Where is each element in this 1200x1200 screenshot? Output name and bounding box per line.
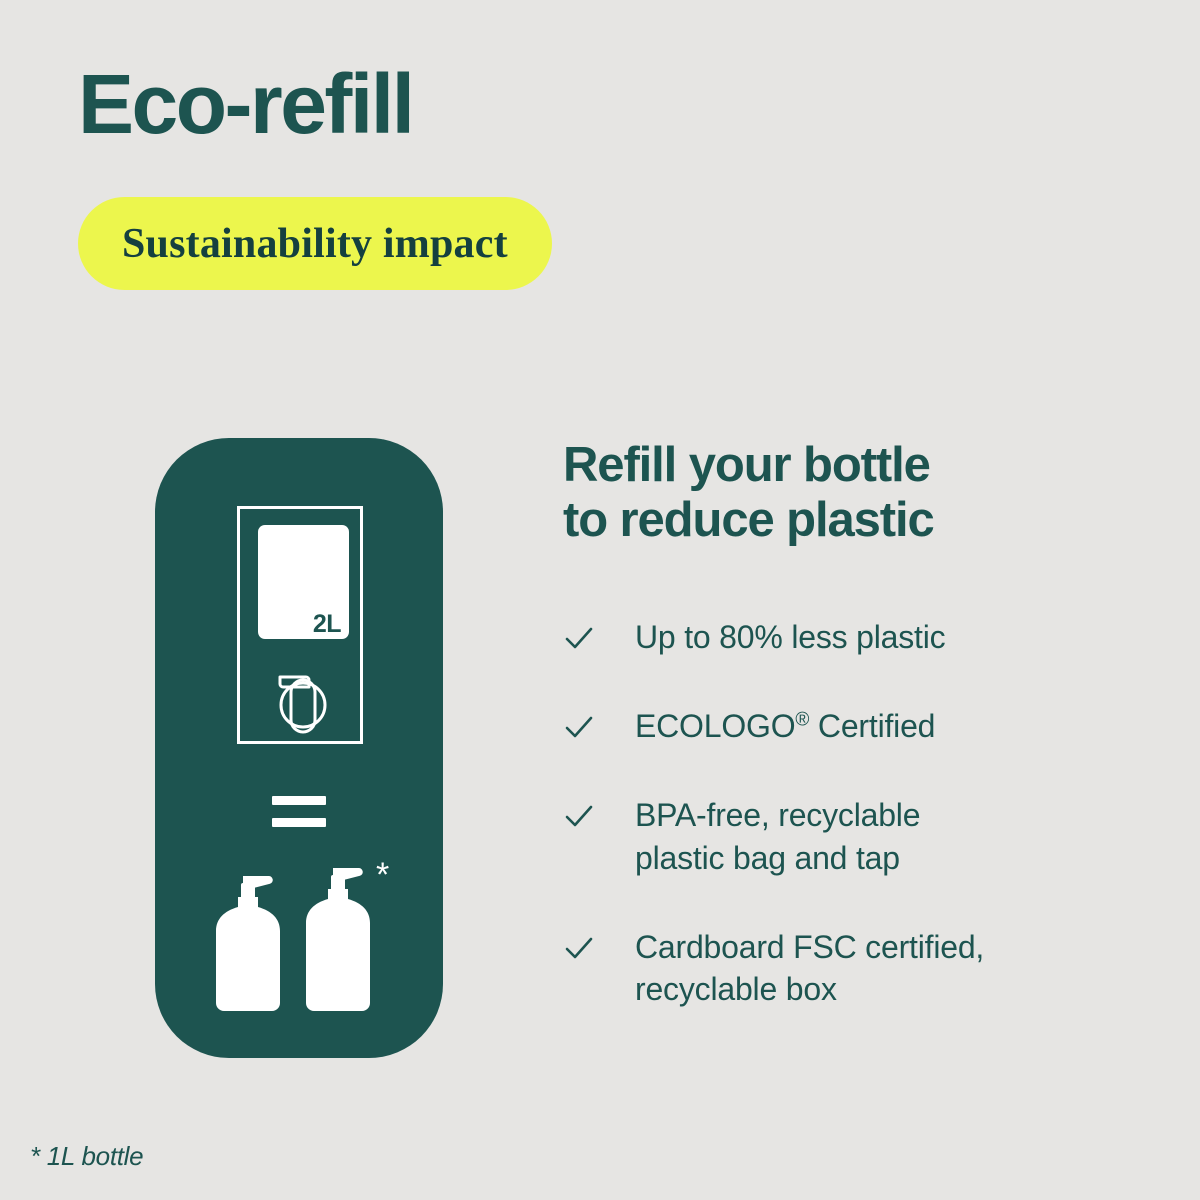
equals-bar-bottom (272, 818, 326, 827)
registered-trademark-mark: ® (795, 709, 809, 730)
list-item-label: Cardboard FSC certified, recyclable box (635, 926, 984, 1012)
product-illustration-card: 2L * (155, 438, 443, 1058)
check-icon (563, 801, 595, 833)
page-title: Eco-refill (78, 62, 412, 146)
check-icon (563, 712, 595, 744)
list-item-label-text: ECOLOGO (635, 708, 795, 744)
check-icon (563, 933, 595, 965)
list-item: Cardboard FSC certified, recyclable box (563, 926, 1103, 1012)
list-item-label: ECOLOGO® Certified (635, 705, 935, 748)
footnote: * 1L bottle (30, 1141, 143, 1172)
check-icon (563, 623, 595, 655)
list-item: BPA-free, recyclable plastic bag and tap (563, 794, 1103, 880)
list-item-label-suffix: Certified (809, 708, 935, 744)
equals-bar-top (272, 796, 326, 805)
refill-bag-icon: 2L (258, 525, 349, 639)
benefits-list: Up to 80% less plastic ECOLOGO® Certifie… (563, 616, 1103, 1011)
tap-icon (268, 661, 338, 737)
asterisk-marker: * (376, 858, 389, 892)
cardboard-box-outline: 2L (237, 506, 363, 744)
status-badge-label: Sustainability impact (122, 220, 508, 268)
list-item-label: BPA-free, recyclable plastic bag and tap (635, 794, 920, 880)
list-item: ECOLOGO® Certified (563, 705, 1103, 748)
equals-sign-icon (272, 796, 326, 827)
bag-volume-label: 2L (313, 612, 341, 637)
list-item-label: Up to 80% less plastic (635, 616, 945, 659)
pump-bottle-right (306, 868, 370, 1011)
main-headline: Refill your bottle to reduce plastic (563, 438, 934, 548)
pump-bottles-icon (211, 863, 387, 1031)
status-badge: Sustainability impact (78, 197, 552, 290)
list-item: Up to 80% less plastic (563, 616, 1103, 659)
pump-bottle-left (216, 876, 280, 1011)
